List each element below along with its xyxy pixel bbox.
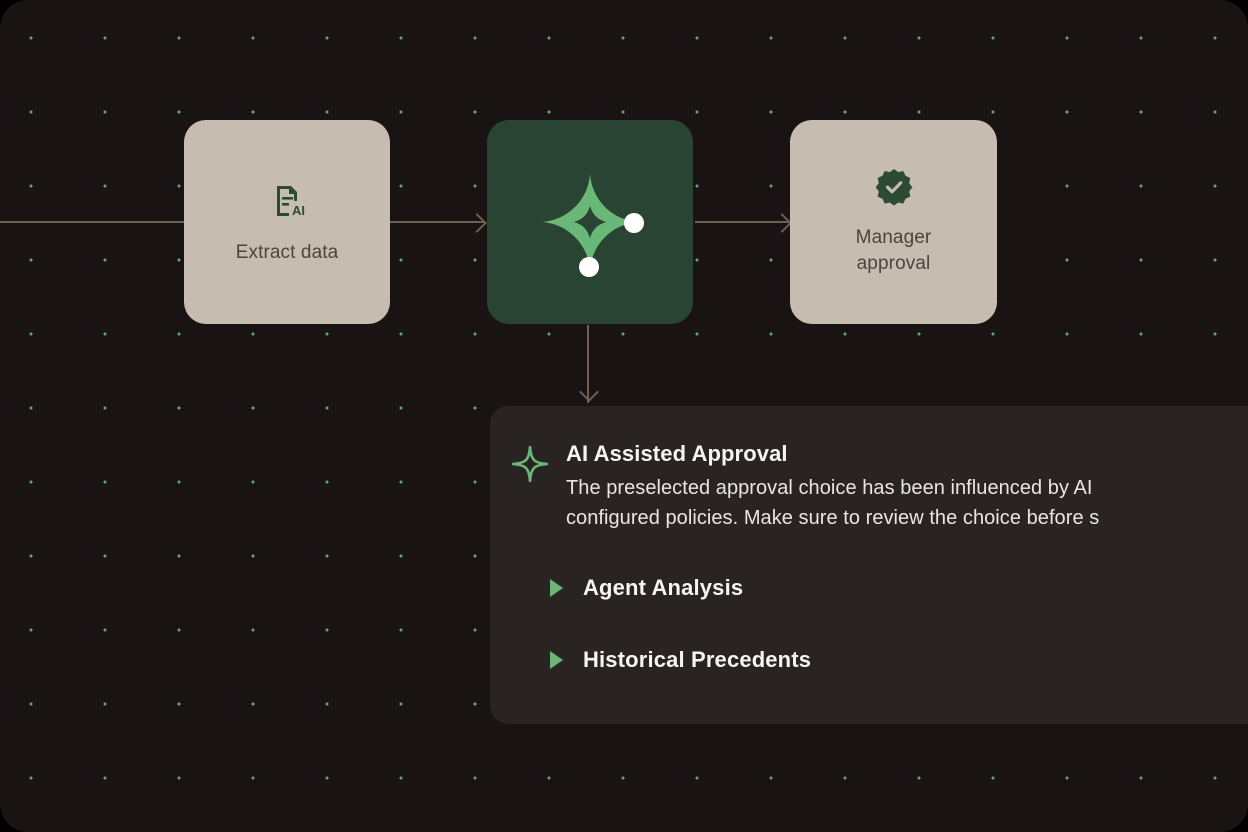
panel-text-block: AI Assisted Approval The preselected app… <box>566 440 1248 533</box>
caret-right-icon[interactable] <box>550 579 563 597</box>
node-ai-agent[interactable] <box>487 120 693 324</box>
node-extract-data-label: Extract data <box>236 240 339 266</box>
accordion-item-agent-analysis-label: Agent Analysis <box>583 575 743 601</box>
document-ai-icon: AI <box>265 178 309 222</box>
accordion-item-historical-precedents[interactable]: Historical Precedents <box>550 637 1248 683</box>
node-manager-approval-label-line2: approval <box>857 253 931 274</box>
sparkle-outline-icon <box>512 446 548 487</box>
panel-header: AI Assisted Approval The preselected app… <box>490 440 1248 533</box>
node-extract-data[interactable]: AI Extract data <box>184 120 390 324</box>
svg-text:AI: AI <box>292 203 305 218</box>
ai-assisted-approval-panel[interactable]: AI Assisted Approval The preselected app… <box>490 406 1248 724</box>
handle-right[interactable] <box>624 213 644 233</box>
handle-bottom[interactable] <box>579 257 599 277</box>
panel-description-line2: configured policies. Make sure to review… <box>566 503 1248 533</box>
panel-title: AI Assisted Approval <box>566 440 1248 468</box>
node-manager-approval-label-line1: Manager <box>856 227 932 248</box>
node-manager-approval-label: Manager approval <box>856 225 932 277</box>
accordion-item-historical-precedents-label: Historical Precedents <box>583 647 811 673</box>
panel-description-line1: The preselected approval choice has been… <box>566 473 1248 503</box>
edge-incoming-line <box>0 221 184 223</box>
verified-badge-icon <box>874 167 914 207</box>
accordion-item-agent-analysis[interactable]: Agent Analysis <box>550 565 1248 611</box>
workflow-canvas[interactable]: AI Extract data Manager approval <box>0 0 1248 832</box>
node-manager-approval[interactable]: Manager approval <box>790 120 997 324</box>
caret-right-icon[interactable] <box>550 651 563 669</box>
panel-accordion: Agent Analysis Historical Precedents <box>490 565 1248 683</box>
